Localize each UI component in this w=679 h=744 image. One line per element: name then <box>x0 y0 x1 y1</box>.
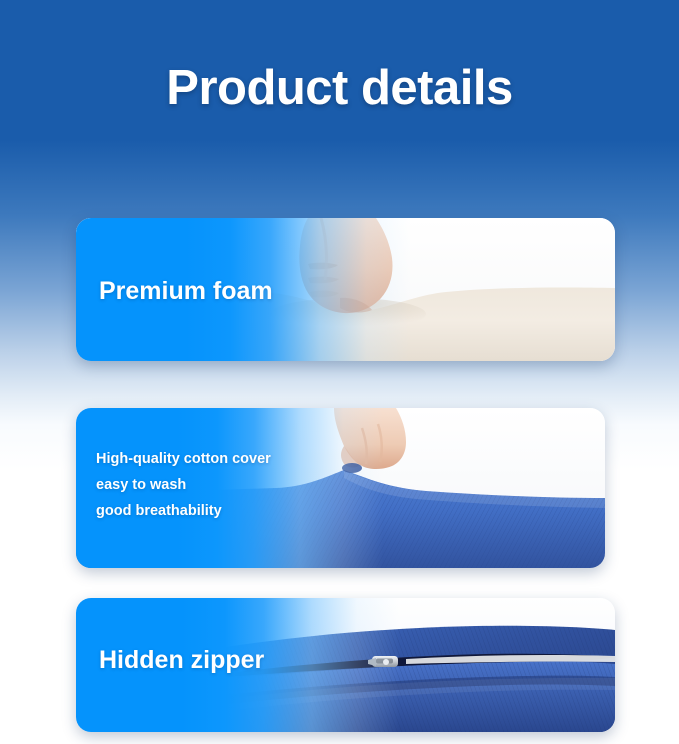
feature-label-premium-foam: Premium foam <box>99 277 273 306</box>
feature-card-premium-foam[interactable]: Premium foam <box>76 218 615 361</box>
feature-card-cotton-cover[interactable]: High-quality cotton cover easy to wash g… <box>76 408 605 568</box>
feature-bullets-cotton-cover: High-quality cotton cover easy to wash g… <box>96 446 271 524</box>
page-background: Product details <box>0 0 679 744</box>
page-title: Product details <box>0 62 679 116</box>
bullet-line: High-quality cotton cover <box>96 446 271 472</box>
bullet-line: good breathability <box>96 498 271 524</box>
feature-card-hidden-zipper[interactable]: Hidden zipper <box>76 598 615 732</box>
bullet-line: easy to wash <box>96 472 271 498</box>
feature-label-hidden-zipper: Hidden zipper <box>99 646 264 675</box>
